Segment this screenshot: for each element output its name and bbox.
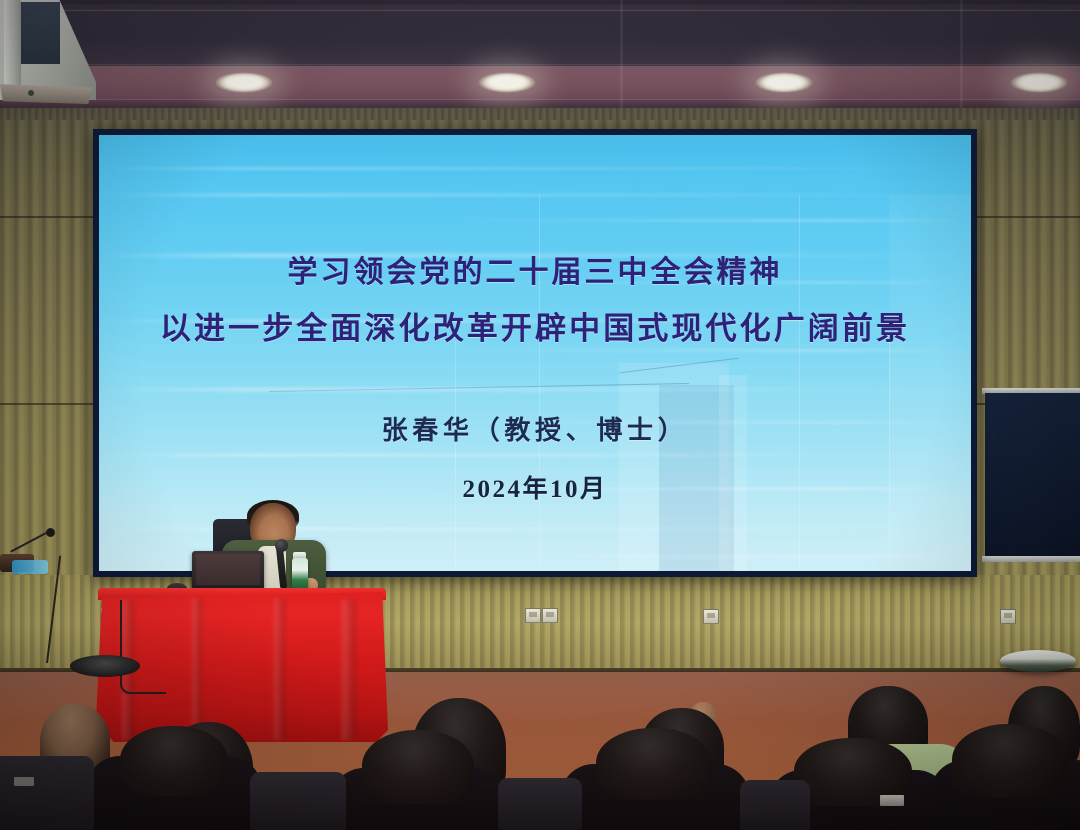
mic-stand-base (70, 655, 140, 677)
projection-screen: 学习领会党的二十届三中全会精神 以进一步全面深化改革开辟中国式现代化广阔前景 张… (99, 135, 971, 571)
slide-title-line2: 以进一步全面深化改革开辟中国式现代化广阔前景 (160, 303, 910, 348)
ceiling-downlight (215, 72, 273, 93)
seat-number-tag (14, 777, 34, 786)
projection-screen-bezel: 学习领会党的二十届三中全会精神 以进一步全面深化改革开辟中国式现代化广阔前景 张… (93, 129, 977, 577)
slide-author: 张春华（教授、博士） (382, 410, 689, 447)
seat-number-tag (880, 795, 904, 806)
laptop (192, 551, 264, 593)
robot-vacuum (1000, 650, 1076, 672)
audience-head (596, 728, 712, 800)
slide-date: 2024年10月 (462, 469, 607, 505)
microphone-head-icon (275, 539, 288, 552)
auditorium-seat (740, 780, 810, 830)
mic-stand-head-icon (46, 528, 55, 537)
projector-body-panel (18, 2, 60, 64)
audience-area (0, 680, 1080, 830)
side-display-panel (985, 393, 1080, 559)
slide-content: 学习领会党的二十届三中全会精神 以进一步全面深化改革开辟中国式现代化广阔前景 张… (99, 135, 971, 571)
audio-device-indicator (12, 560, 48, 574)
wall-outlet[interactable] (703, 609, 719, 624)
projector-mount-pole (4, 0, 21, 88)
audience-head (120, 726, 228, 796)
laptop-screen (196, 554, 260, 585)
wall-outlet[interactable] (542, 608, 558, 623)
auditorium-seat (250, 772, 346, 830)
ceiling-seam (0, 10, 1080, 11)
auditorium-seat (0, 756, 94, 830)
side-display-bottom-trim (982, 556, 1080, 562)
slide-title-line1: 学习领会党的二十届三中全会精神 (288, 247, 783, 291)
ceiling-downlight (755, 72, 813, 93)
ceiling-downlight (1010, 72, 1068, 93)
wall-outlet[interactable] (1000, 609, 1016, 624)
wall-outlet[interactable] (525, 608, 541, 623)
ceiling-rib (620, 0, 623, 112)
ceiling-downlight (478, 72, 536, 93)
audience-head (362, 730, 474, 804)
projector-indicator (28, 90, 34, 96)
ceiling-rib (960, 0, 963, 112)
ceiling-beam (0, 66, 1080, 100)
ceiling-seam (0, 64, 1080, 65)
audience-head (952, 724, 1068, 798)
lecture-hall-photo: 学习领会党的二十届三中全会精神 以进一步全面深化改革开辟中国式现代化广阔前景 张… (0, 0, 1080, 830)
auditorium-seat (498, 778, 582, 830)
ceiling-seam (0, 99, 1080, 100)
